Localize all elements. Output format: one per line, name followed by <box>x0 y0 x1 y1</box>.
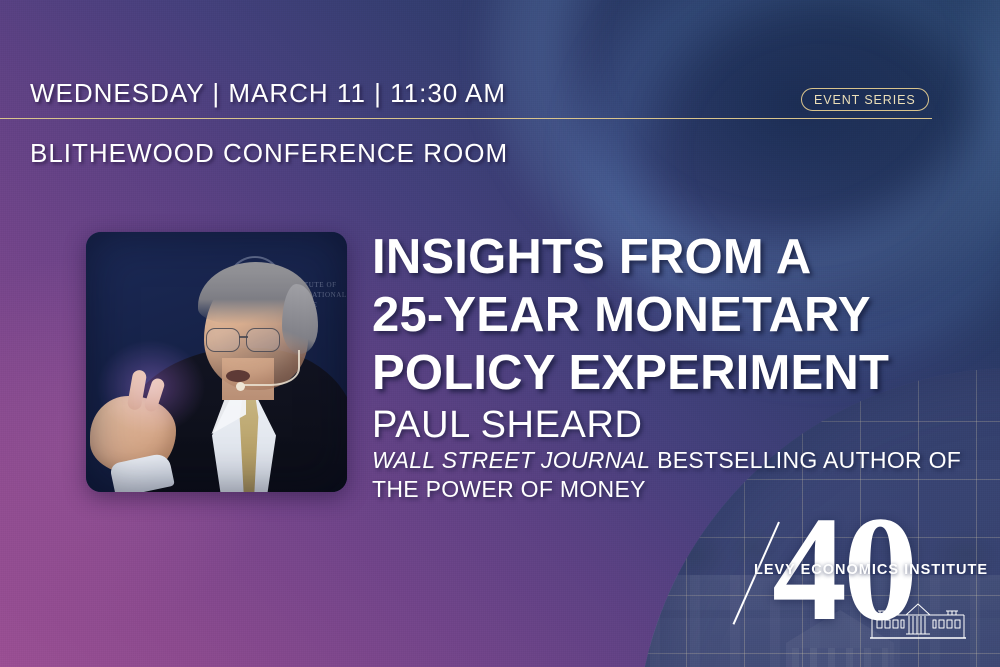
event-poster: WEDNESDAY | MARCH 11 | 11:30 AM EVENT SE… <box>0 0 1000 667</box>
page-title-line-2: 25-YEAR MONETARY <box>372 286 992 344</box>
mansion-line-art-icon <box>870 598 966 640</box>
event-date-time: WEDNESDAY | MARCH 11 | 11:30 AM <box>30 78 506 109</box>
speaker-name: PAUL SHEARD <box>372 404 643 447</box>
speaker-credit-book: THE POWER OF MONEY <box>372 476 646 502</box>
speaker-credit-publication: WALL STREET JOURNAL <box>372 447 650 473</box>
page-title-line-1: INSIGHTS FROM A <box>372 228 992 286</box>
gold-divider-rule <box>0 118 932 119</box>
levy-institute-logo: 40 LEVY ECONOMICS INSTITUTE <box>744 500 994 660</box>
speaker-portrait: IIF INSTITUTE OF INTERNATIONAL FINANCE <box>86 232 347 492</box>
portrait-vignette <box>86 232 347 492</box>
speaker-credit-suffix: BESTSELLING AUTHOR OF <box>650 447 961 473</box>
organization-name: LEVY ECONOMICS INSTITUTE <box>752 562 990 578</box>
event-venue: BLITHEWOOD CONFERENCE ROOM <box>30 138 508 169</box>
page-title-line-3: POLICY EXPERIMENT <box>372 344 992 402</box>
status-badge-label: EVENT SERIES <box>814 93 916 107</box>
status-badge[interactable]: EVENT SERIES <box>801 88 929 111</box>
page-title: INSIGHTS FROM A 25-YEAR MONETARY POLICY … <box>372 228 992 402</box>
